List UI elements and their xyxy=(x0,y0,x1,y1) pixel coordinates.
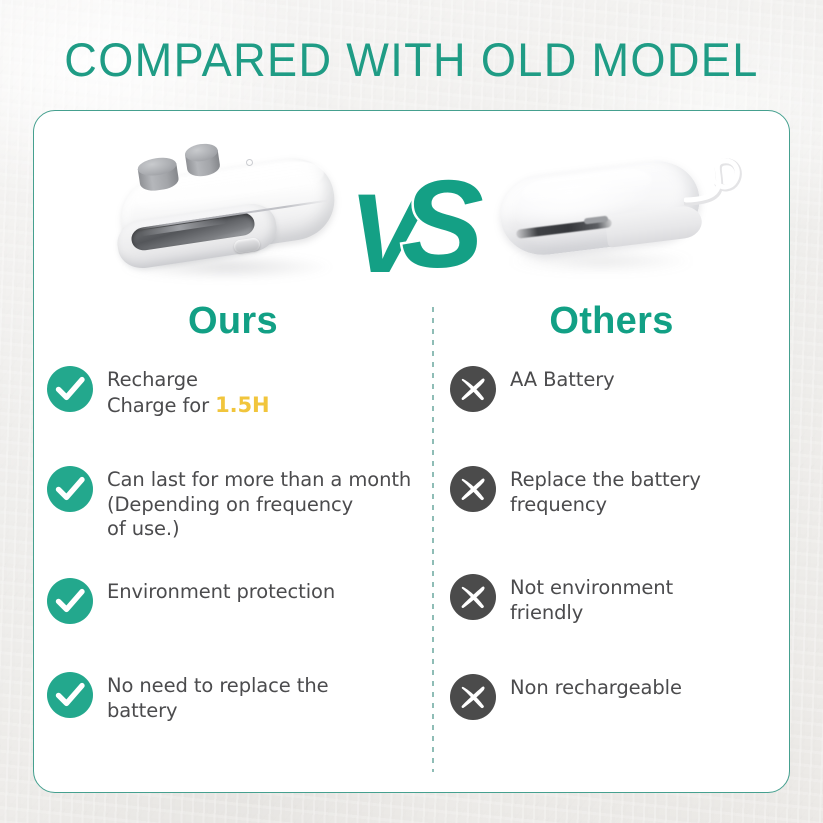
list-item-line: Non rechargeable xyxy=(510,676,682,701)
list-item-line: of use.) xyxy=(107,517,411,542)
list-item-line: Not environment xyxy=(510,576,673,601)
versus-badge: V S xyxy=(345,168,485,298)
page-title: COMPARED WITH OLD MODEL xyxy=(16,32,806,87)
list-item-text: Replace the battery frequency xyxy=(510,466,701,517)
cross-icon xyxy=(450,466,496,512)
list-item: No need to replace the battery xyxy=(47,672,427,723)
product-hero-row: V S xyxy=(33,110,790,325)
list-item-line: friendly xyxy=(510,601,673,626)
check-icon xyxy=(47,578,93,624)
ours-product-image xyxy=(105,146,350,296)
column-divider xyxy=(432,307,434,772)
ours-knob-large xyxy=(137,155,181,196)
ours-side-switch xyxy=(233,237,261,254)
charge-time-highlight: 1.5H xyxy=(215,393,269,417)
others-hook-icon xyxy=(684,156,748,218)
infographic-page: COMPARED WITH OLD MODEL V S xyxy=(0,0,823,823)
list-item-line: battery xyxy=(107,699,328,724)
list-item-line: Environment protection xyxy=(107,580,335,605)
cross-icon xyxy=(450,674,496,720)
list-item: Can last for more than a month (Dependin… xyxy=(47,466,427,542)
list-item-line: Recharge xyxy=(107,368,269,393)
versus-letter-s: S xyxy=(401,163,484,287)
list-item-line: (Depending on frequency xyxy=(107,493,411,518)
list-item: Replace the battery frequency xyxy=(450,466,790,517)
list-item-text: Environment protection xyxy=(107,578,335,605)
list-item-text: Recharge Charge for 1.5H xyxy=(107,366,269,418)
list-item-text: AA Battery xyxy=(510,366,615,393)
list-item-text: No need to replace the battery xyxy=(107,672,328,723)
list-item: Environment protection xyxy=(47,578,427,624)
list-item: AA Battery xyxy=(450,366,790,412)
column-heading-others: Others xyxy=(433,300,790,343)
list-item-line: Charge for 1.5H xyxy=(107,393,269,419)
list-item-line: AA Battery xyxy=(510,368,615,393)
check-icon xyxy=(47,366,93,412)
others-product-image xyxy=(488,154,748,289)
list-item-text: Can last for more than a month (Dependin… xyxy=(107,466,411,542)
cross-icon xyxy=(450,366,496,412)
list-item-line: No need to replace the xyxy=(107,674,328,699)
list-item-line: Can last for more than a month xyxy=(107,468,411,493)
column-heading-ours: Ours xyxy=(33,300,433,343)
list-item-line: Replace the battery xyxy=(510,468,701,493)
list-item: Non rechargeable xyxy=(450,674,790,720)
list-item: Not environment friendly xyxy=(450,574,790,625)
check-icon xyxy=(47,672,93,718)
list-item-line: frequency xyxy=(510,493,701,518)
list-item-text: Not environment friendly xyxy=(510,574,673,625)
cross-icon xyxy=(450,574,496,620)
list-item-text: Non rechargeable xyxy=(510,674,682,701)
list-item-line-text: Charge for xyxy=(107,394,215,417)
check-icon xyxy=(47,466,93,512)
ours-knob-small xyxy=(184,142,221,179)
list-item: Recharge Charge for 1.5H xyxy=(47,366,427,418)
